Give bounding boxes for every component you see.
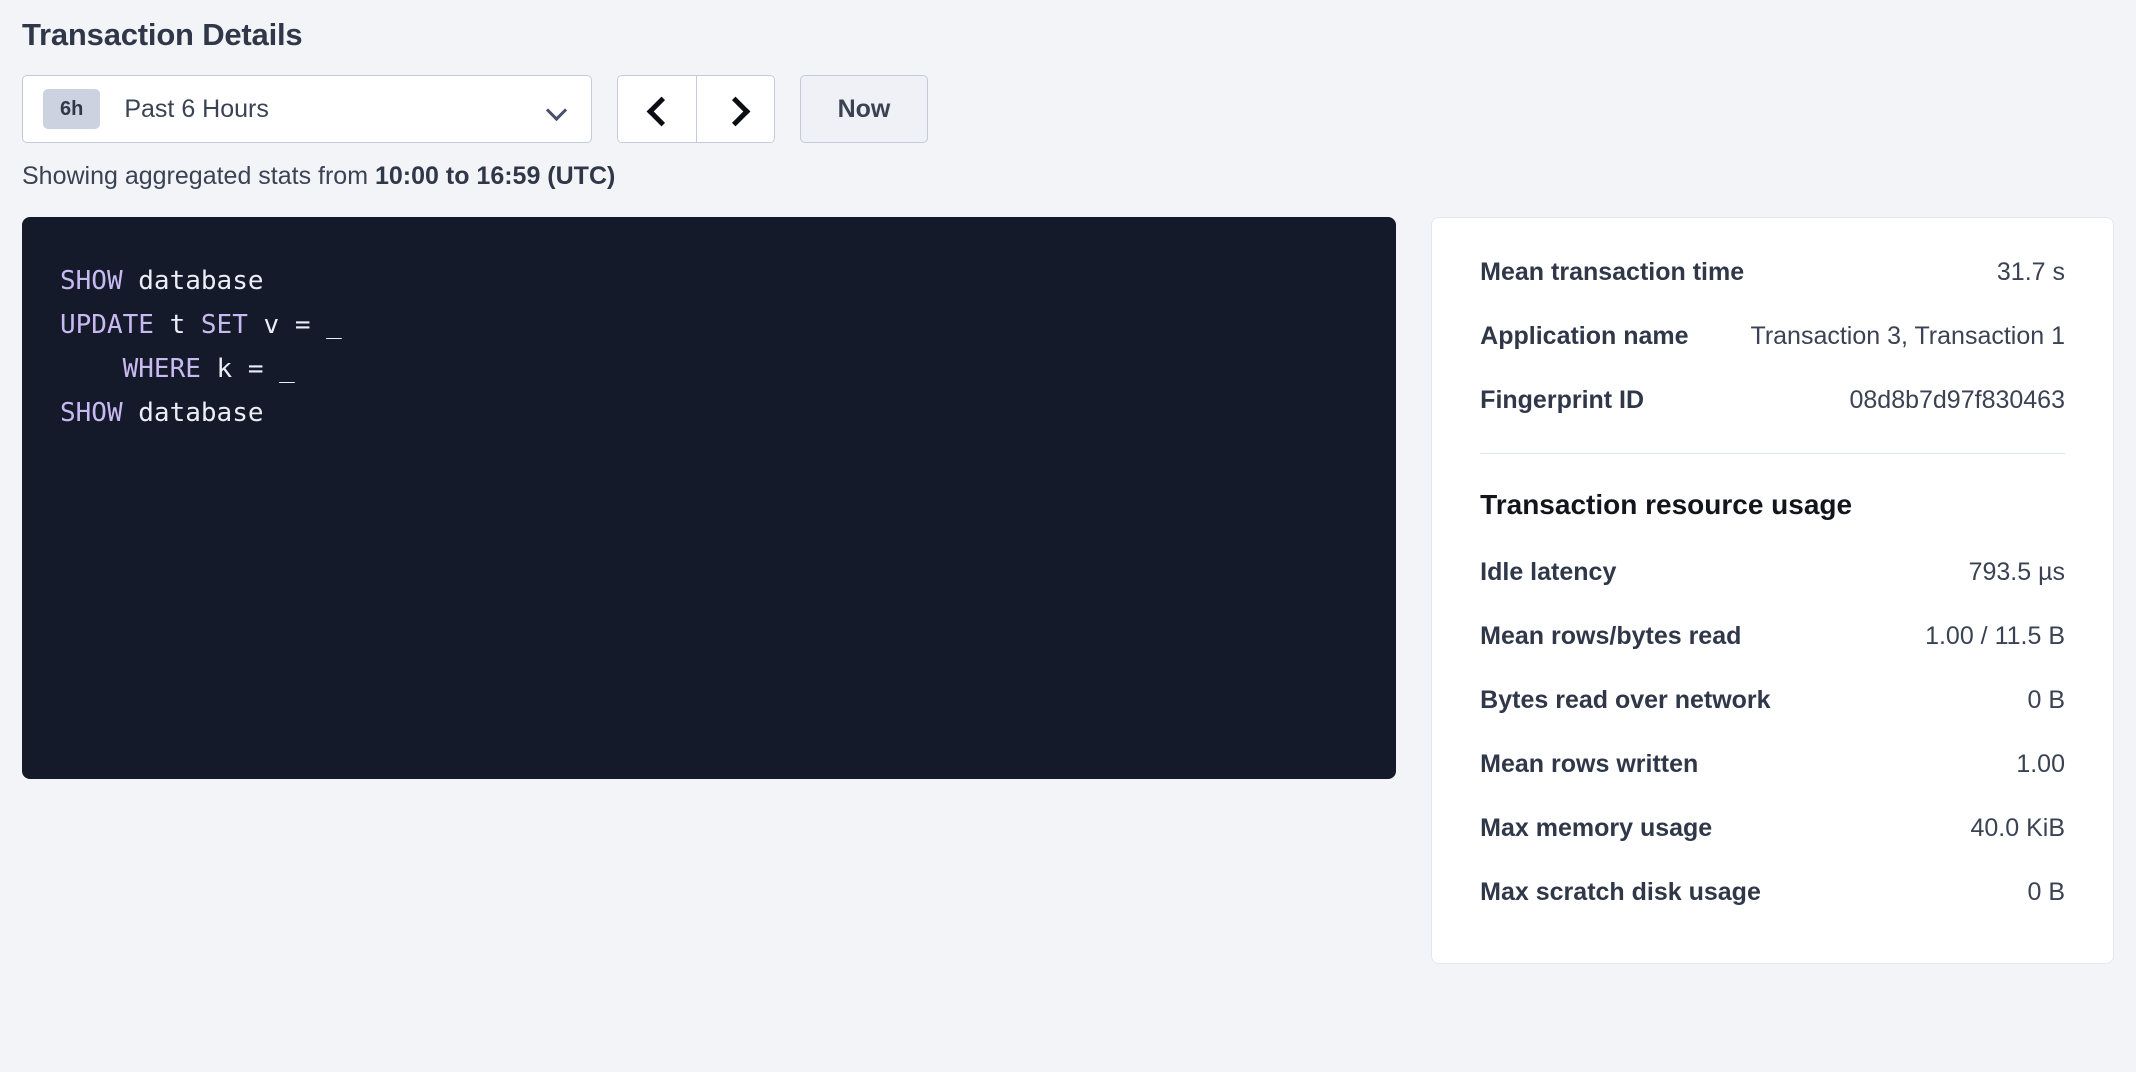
range-nav-group	[617, 75, 775, 143]
range-summary-prefix: Showing aggregated stats from	[22, 162, 375, 190]
summary-stat-row: Application nameTransaction 3, Transacti…	[1480, 322, 2065, 351]
now-button[interactable]: Now	[800, 75, 928, 143]
stat-label: Max scratch disk usage	[1480, 878, 1761, 907]
sql-identifier: database	[123, 398, 264, 428]
details-content: SHOW databaseUPDATE t SET v = _ WHERE k …	[22, 217, 2114, 964]
stat-value: Transaction 3, Transaction 1	[1750, 322, 2065, 351]
previous-range-button[interactable]	[618, 76, 696, 142]
time-range-toolbar: 6h Past 6 Hours Now	[22, 75, 2114, 143]
resource-stat-row: Mean rows/bytes read1.00 / 11.5 B	[1480, 622, 2065, 651]
chevron-right-icon	[725, 98, 747, 120]
stat-value: 08d8b7d97f830463	[1849, 386, 2065, 415]
resource-usage-title: Transaction resource usage	[1480, 488, 2065, 522]
summary-stat-row: Fingerprint ID08d8b7d97f830463	[1480, 386, 2065, 415]
resource-stat-row: Max scratch disk usage0 B	[1480, 878, 2065, 907]
code-line: UPDATE t SET v = _	[60, 303, 1396, 347]
summary-stat-row: Mean transaction time31.7 s	[1480, 258, 2065, 287]
range-badge: 6h	[43, 89, 100, 129]
stat-label: Fingerprint ID	[1480, 386, 1644, 415]
stat-label: Mean rows written	[1480, 750, 1698, 779]
stat-value: 0 B	[2027, 878, 2065, 907]
sql-identifier: database	[123, 266, 264, 296]
sql-identifier: t	[154, 310, 201, 340]
sql-keyword: SHOW	[60, 398, 123, 428]
summary-stats-list: Mean transaction time31.7 sApplication n…	[1480, 258, 2065, 415]
transaction-details-page: Transaction Details 6h Past 6 Hours Now …	[0, 0, 2136, 1072]
stat-value: 1.00	[2016, 750, 2065, 779]
code-line: SHOW database	[60, 391, 1396, 435]
resource-stat-row: Bytes read over network0 B	[1480, 686, 2065, 715]
range-summary-text: Showing aggregated stats from 10:00 to 1…	[22, 161, 2114, 191]
stat-label: Mean transaction time	[1480, 258, 1744, 287]
page-title: Transaction Details	[22, 0, 2114, 53]
stat-label: Bytes read over network	[1480, 686, 1770, 715]
resource-stat-row: Mean rows written1.00	[1480, 750, 2065, 779]
resource-stat-row: Idle latency793.5 µs	[1480, 558, 2065, 587]
transaction-stats-card: Mean transaction time31.7 sApplication n…	[1431, 217, 2114, 964]
sql-code-block: SHOW databaseUPDATE t SET v = _ WHERE k …	[22, 217, 1396, 779]
resource-stats-list: Idle latency793.5 µsMean rows/bytes read…	[1480, 558, 2065, 907]
sql-keyword: UPDATE	[60, 310, 154, 340]
resource-stat-row: Max memory usage40.0 KiB	[1480, 814, 2065, 843]
stat-value: 793.5 µs	[1969, 558, 2065, 587]
stat-label: Mean rows/bytes read	[1480, 622, 1741, 651]
sql-identifier: k = _	[201, 354, 295, 384]
sql-identifier: v = _	[248, 310, 342, 340]
stat-value: 40.0 KiB	[1970, 814, 2065, 843]
next-range-button[interactable]	[696, 76, 774, 142]
stat-label: Max memory usage	[1480, 814, 1712, 843]
stats-divider	[1480, 453, 2065, 454]
stat-value: 31.7 s	[1997, 258, 2065, 287]
sql-keyword: WHERE	[60, 354, 201, 384]
code-line: WHERE k = _	[60, 347, 1396, 391]
chevron-left-icon	[646, 98, 668, 120]
range-label: Past 6 Hours	[124, 95, 547, 124]
sql-keyword: SHOW	[60, 266, 123, 296]
stat-value: 0 B	[2027, 686, 2065, 715]
stat-label: Idle latency	[1480, 558, 1616, 587]
stat-value: 1.00 / 11.5 B	[1925, 622, 2065, 651]
stat-label: Application name	[1480, 322, 1688, 351]
code-line: SHOW database	[60, 259, 1396, 303]
time-range-select[interactable]: 6h Past 6 Hours	[22, 75, 592, 143]
chevron-down-icon	[547, 103, 567, 115]
range-summary-window: 10:00 to 16:59 (UTC)	[375, 162, 615, 190]
sql-keyword: SET	[201, 310, 248, 340]
